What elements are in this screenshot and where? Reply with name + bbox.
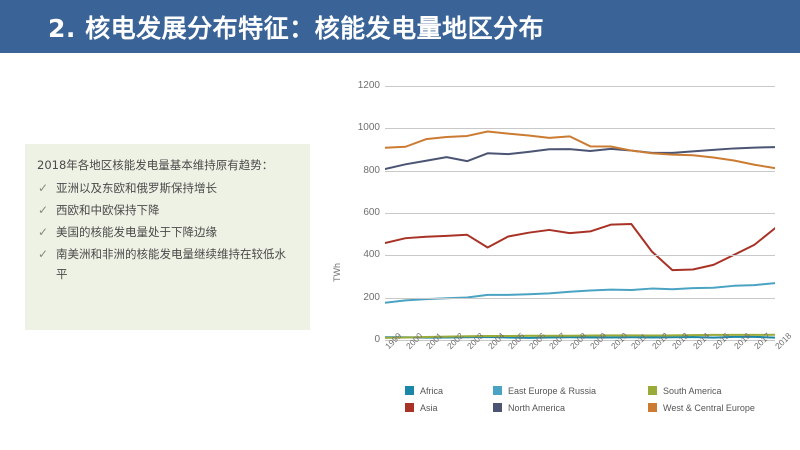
y-axis-tick-label: 0 xyxy=(338,334,380,345)
y-axis-ticks: 020040060080010001200 xyxy=(322,86,380,346)
x-axis-tick-label: 2018 xyxy=(773,331,793,351)
x-axis-ticks: 1999200020012002200320042005200620072008… xyxy=(385,344,775,384)
y-axis-tick-label: 800 xyxy=(338,165,380,176)
callout-bullet-text: 西欧和中欧保持下降 xyxy=(56,200,160,220)
y-axis-tick-label: 600 xyxy=(338,207,380,218)
legend-swatch-icon xyxy=(405,403,414,412)
callout-bullet-item: ✓亚洲以及东欧和俄罗斯保持增长 xyxy=(37,178,296,198)
chart-container: TWh 020040060080010001200 19992000200120… xyxy=(330,86,790,426)
gridline xyxy=(385,255,775,256)
gridline xyxy=(385,213,775,214)
summary-callout-box: 2018年各地区核能发电量基本维持原有趋势： ✓亚洲以及东欧和俄罗斯保持增长✓西… xyxy=(25,144,310,330)
legend-swatch-icon xyxy=(493,386,502,395)
plot-area xyxy=(385,86,775,340)
legend-swatch-icon xyxy=(493,403,502,412)
page-title: 2. 核电发展分布特征：核能发电量地区分布 xyxy=(48,9,544,45)
legend-label: South America xyxy=(663,386,722,396)
check-icon: ✓ xyxy=(37,178,56,198)
legend-item[interactable]: Asia xyxy=(405,403,493,413)
gridline xyxy=(385,171,775,172)
series-line xyxy=(385,283,775,303)
callout-bullet-list: ✓亚洲以及东欧和俄罗斯保持增长✓西欧和中欧保持下降✓美国的核能发电量处于下降边缘… xyxy=(37,178,296,284)
legend-item[interactable]: East Europe & Russia xyxy=(493,386,648,396)
chart-legend: AfricaEast Europe & RussiaSouth AmericaA… xyxy=(405,382,785,416)
y-axis-tick-label: 1000 xyxy=(338,122,380,133)
callout-bullet-item: ✓西欧和中欧保持下降 xyxy=(37,200,296,220)
series-line xyxy=(385,224,775,270)
check-icon: ✓ xyxy=(37,200,56,220)
legend-item[interactable]: North America xyxy=(493,403,648,413)
callout-lead-text: 2018年各地区核能发电量基本维持原有趋势： xyxy=(37,156,296,175)
legend-label: Africa xyxy=(420,386,443,396)
slide-root: 2. 核电发展分布特征：核能发电量地区分布 2018年各地区核能发电量基本维持原… xyxy=(0,0,800,450)
legend-swatch-icon xyxy=(648,403,657,412)
legend-label: West & Central Europe xyxy=(663,403,755,413)
legend-swatch-icon xyxy=(648,386,657,395)
legend-item[interactable]: West & Central Europe xyxy=(648,403,788,413)
y-axis-tick-label: 400 xyxy=(338,249,380,260)
gridline xyxy=(385,128,775,129)
legend-label: East Europe & Russia xyxy=(508,386,596,396)
legend-label: Asia xyxy=(420,403,438,413)
callout-bullet-item: ✓南美洲和非洲的核能发电量继续维持在较低水平 xyxy=(37,244,296,284)
legend-label: North America xyxy=(508,403,565,413)
callout-bullet-text: 亚洲以及东欧和俄罗斯保持增长 xyxy=(56,178,217,198)
y-axis-tick-label: 1200 xyxy=(338,80,380,91)
check-icon: ✓ xyxy=(37,222,56,242)
legend-swatch-icon xyxy=(405,386,414,395)
callout-bullet-text: 美国的核能发电量处于下降边缘 xyxy=(56,222,217,242)
gridline xyxy=(385,86,775,87)
callout-bullet-item: ✓美国的核能发电量处于下降边缘 xyxy=(37,222,296,242)
legend-item[interactable]: South America xyxy=(648,386,788,396)
legend-item[interactable]: Africa xyxy=(405,386,493,396)
check-icon: ✓ xyxy=(37,244,56,264)
callout-bullet-text: 南美洲和非洲的核能发电量继续维持在较低水平 xyxy=(56,244,296,284)
gridline xyxy=(385,298,775,299)
y-axis-tick-label: 200 xyxy=(338,292,380,303)
